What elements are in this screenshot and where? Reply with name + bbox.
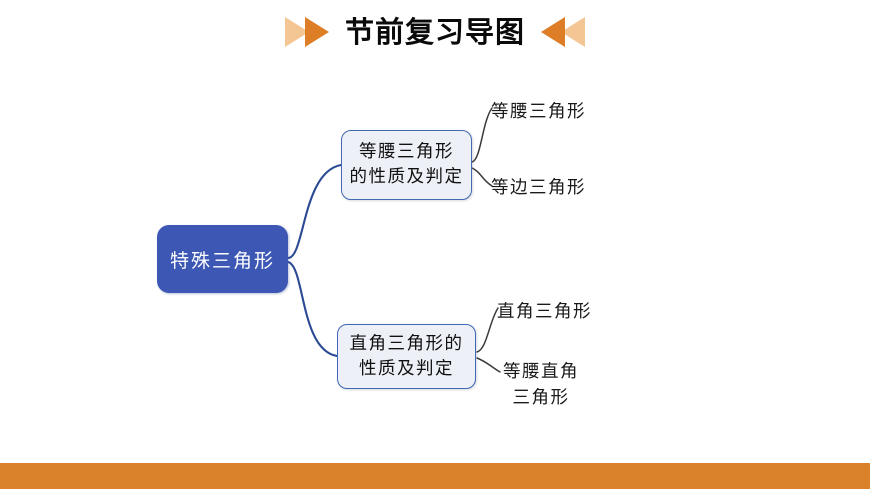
double-arrow-right-icon [283, 15, 339, 49]
branch-lower-label-line2: 性质及判定 [359, 357, 454, 382]
mindmap-leaf-label-isosceles-right-triangle[interactable]: 等腰直角 三角形 [503, 359, 579, 412]
connector-root-to-upper [288, 165, 341, 258]
mindmap-leaf-label-equilateral-triangle[interactable]: 等边三角形 [491, 175, 586, 201]
branch-lower-label-line1: 直角三角形的 [350, 332, 464, 357]
branch-upper-label-line2: 的性质及判定 [350, 165, 464, 190]
leaf-4-line1: 等腰直角 [503, 359, 579, 385]
mindmap-connectors [0, 0, 870, 489]
slide-canvas: 节前复习导图 特殊三角形 等腰三角形 的性质及判定 直角三角形的 性质及判定 [0, 0, 870, 489]
mindmap-branch-node-lower[interactable]: 直角三角形的 性质及判定 [337, 324, 476, 389]
mindmap-leaf-label-right-triangle[interactable]: 直角三角形 [497, 299, 592, 325]
leaf-2-line1: 等边三角形 [491, 175, 586, 201]
slide-title-row: 节前复习导图 [0, 8, 870, 56]
mindmap-branch-node-upper[interactable]: 等腰三角形 的性质及判定 [341, 130, 472, 200]
branch-upper-label-line1: 等腰三角形 [359, 140, 454, 165]
page-title: 节前复习导图 [345, 18, 525, 47]
leaf-4-line2: 三角形 [503, 385, 579, 411]
mindmap-root-node[interactable]: 特殊三角形 [157, 225, 288, 293]
double-arrow-left-icon [531, 15, 587, 49]
connector-lower-to-leaf4 [477, 358, 500, 372]
leaf-1-line1: 等腰三角形 [491, 99, 586, 125]
connector-lower-to-leaf3 [477, 308, 498, 352]
connector-upper-to-leaf2 [472, 168, 492, 186]
connector-upper-to-leaf1 [472, 108, 492, 162]
root-node-label: 特殊三角形 [170, 246, 275, 273]
footer-accent-bar [0, 463, 870, 489]
mindmap-leaf-label-isosceles-triangle[interactable]: 等腰三角形 [491, 99, 586, 125]
leaf-3-line1: 直角三角形 [497, 299, 592, 325]
connector-root-to-lower [288, 262, 337, 356]
